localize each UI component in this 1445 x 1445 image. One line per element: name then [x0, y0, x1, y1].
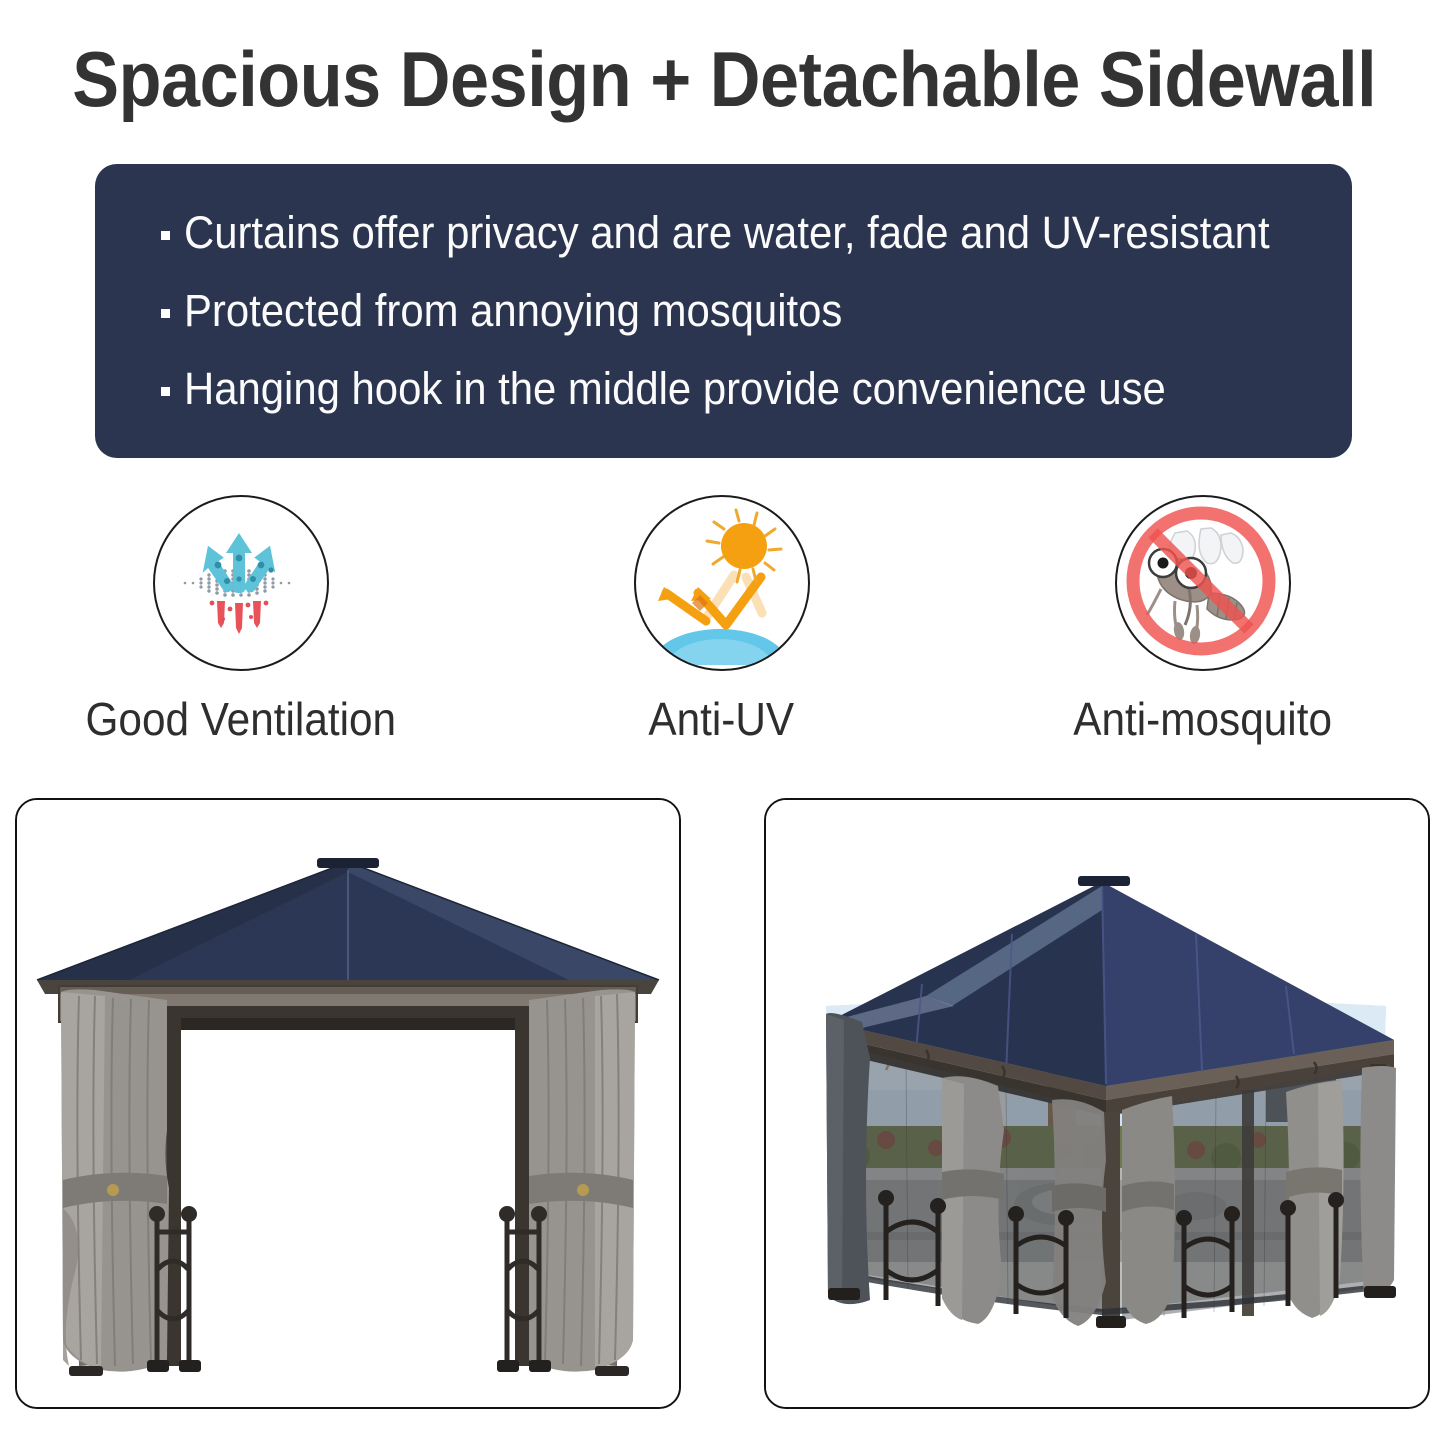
ventilation-icon: [153, 495, 329, 671]
feature-highlight-panel: Curtains offer privacy and are water, fa…: [95, 164, 1352, 458]
feature-icon-row: Good Ventilation: [0, 495, 1445, 745]
product-feature-infographic: Spacious Design + Detachable Sidewall Cu…: [0, 0, 1445, 1445]
gazebo-angled-outdoor-photo: [764, 798, 1430, 1409]
feature-label: Anti-UV: [649, 693, 795, 745]
list-item: Curtains offer privacy and are water, fa…: [161, 208, 1312, 258]
bullet-square-icon: [161, 309, 170, 318]
bullet-text: Protected from annoying mosquitos: [184, 286, 842, 336]
bullet-text: Hanging hook in the middle provide conve…: [184, 364, 1166, 414]
bullet-square-icon: [161, 231, 170, 240]
feature-ventilation: Good Ventilation: [0, 495, 481, 745]
bullet-text: Curtains offer privacy and are water, fa…: [184, 208, 1270, 258]
feature-anti-mosquito: Anti-mosquito: [962, 495, 1443, 745]
gazebo-front-view-photo: [15, 798, 681, 1409]
list-item: Protected from annoying mosquitos: [161, 286, 1312, 336]
anti-mosquito-icon: [1115, 495, 1291, 671]
product-photo-row: [15, 798, 1430, 1409]
bullet-square-icon: [161, 387, 170, 396]
page-title: Spacious Design + Detachable Sidewall: [72, 36, 1373, 122]
anti-uv-icon: [634, 495, 810, 671]
feature-anti-uv: Anti-UV: [481, 495, 962, 745]
list-item: Hanging hook in the middle provide conve…: [161, 364, 1312, 414]
feature-label: Good Ventilation: [85, 693, 396, 745]
feature-label: Anti-mosquito: [1073, 693, 1332, 745]
